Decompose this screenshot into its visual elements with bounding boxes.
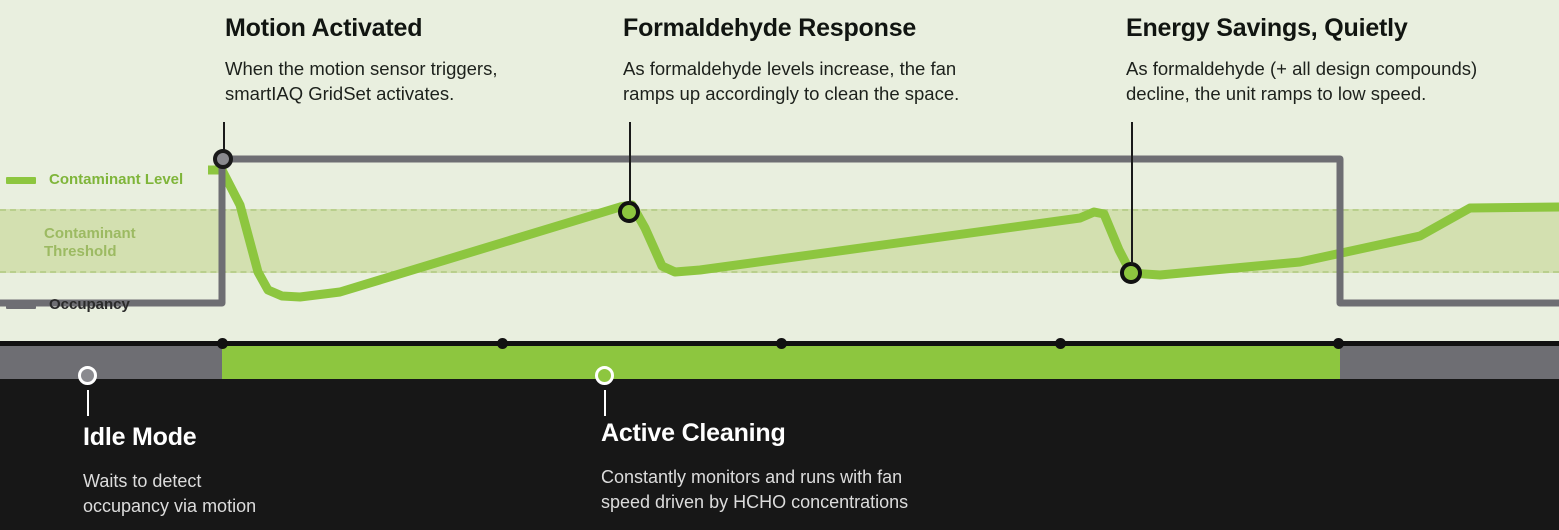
timeline-tick-dot-3 [776,338,787,349]
callout-title: Formaldehyde Response [623,15,959,43]
callout-title: Motion Activated [225,15,498,43]
infographic-root: Contaminant Level Contaminant Threshold … [0,0,1559,530]
mode-body: Constantly monitors and runs with fan sp… [601,465,908,515]
mode-leader-line-active-cleaning [604,390,606,416]
callout-leader-line-motion-activated [223,122,225,152]
callout-body: As formaldehyde (+ all design compounds)… [1126,56,1477,107]
callout-title: Energy Savings, Quietly [1126,15,1477,43]
timeline-tick-dot-2 [497,338,508,349]
chart-marker-formaldehyde-response[interactable] [620,203,638,221]
legend-label-occupancy: Occupancy [49,296,130,314]
chart-marker-motion-activated[interactable] [215,151,231,167]
legend-swatch-contaminant-level [6,177,36,184]
mode-title: Active Cleaning [601,420,908,448]
timeline-segment-idle-left[interactable] [0,346,222,379]
mode-title: Idle Mode [83,424,256,452]
legend-item-occupancy: Occupancy [6,296,130,314]
mode-marker-idle-mode[interactable] [78,366,97,385]
legend-label-contaminant-level: Contaminant Level [49,171,183,189]
series-line-contaminant-level [208,170,1559,297]
mode-block-active-cleaning: Active Cleaning Constantly monitors and … [601,420,908,515]
timeline-bar[interactable] [0,341,1559,379]
legend-item-contaminant-level: Contaminant Level [6,171,183,189]
timeline-segment-active-cleaning[interactable] [222,346,1340,379]
legend-label-contaminant-threshold: Contaminant Threshold [44,225,136,261]
callout-motion-activated: Motion Activated When the motion sensor … [225,15,498,107]
callout-energy-savings-quietly: Energy Savings, Quietly As formaldehyde … [1126,15,1477,107]
timeline-tick-dot-5 [1333,338,1344,349]
callout-body: As formaldehyde levels increase, the fan… [623,56,959,107]
chart-marker-energy-savings-quietly[interactable] [1122,264,1140,282]
timeline-tick-dot-4 [1055,338,1066,349]
mode-body: Waits to detect occupancy via motion [83,469,256,519]
callout-leader-line-formaldehyde-response [629,122,631,204]
callout-formaldehyde-response: Formaldehyde Response As formaldehyde le… [623,15,959,107]
series-line-occupancy [0,159,1559,303]
callout-leader-line-energy-savings [1131,122,1133,265]
legend-swatch-occupancy [6,302,36,309]
mode-marker-active-cleaning[interactable] [595,366,614,385]
mode-leader-line-idle-mode [87,390,89,416]
mode-block-idle-mode: Idle Mode Waits to detect occupancy via … [83,424,256,519]
callout-body: When the motion sensor triggers, smartIA… [225,56,498,107]
timeline-segment-idle-right[interactable] [1340,346,1559,379]
timeline-tick-dot-1 [217,338,228,349]
